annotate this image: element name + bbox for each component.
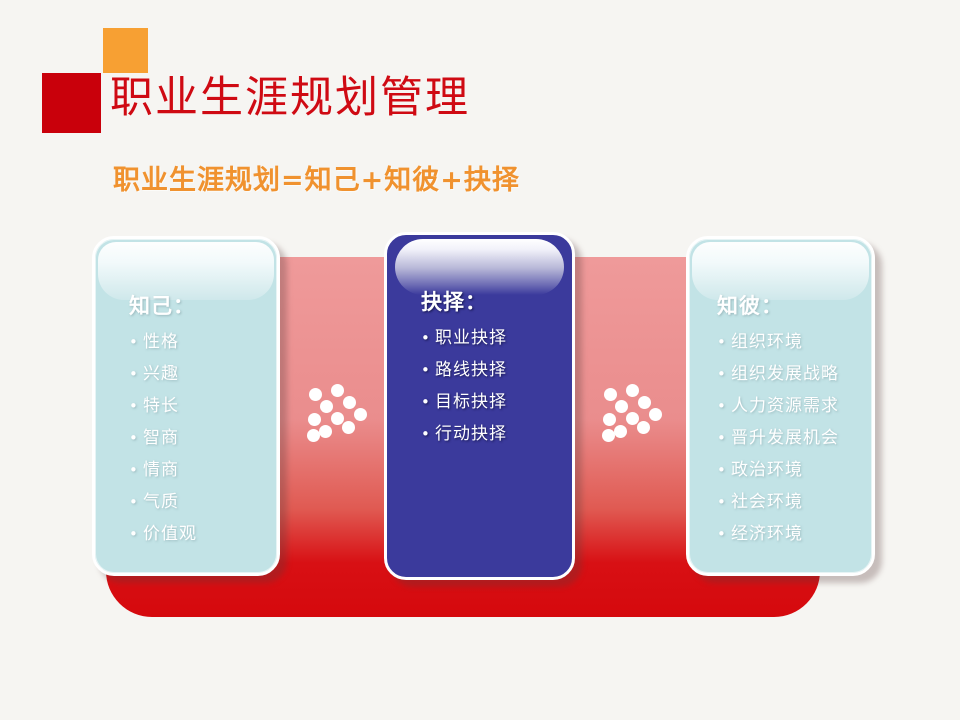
card-juezhe-list: 职业抉择 路线抉择 目标抉择 行动抉择	[421, 322, 572, 450]
card-zhiji-list: 性格 兴趣 特长 智商 情商 气质 价值观	[129, 326, 277, 550]
list-item: 组织发展战略	[717, 358, 872, 390]
page-subtitle: 职业生涯规划=知己+知彼+抉择	[113, 163, 520, 199]
page-title: 职业生涯规划管理	[110, 68, 470, 128]
list-item: 价值观	[129, 518, 277, 550]
list-item: 政治环境	[717, 454, 872, 486]
list-item: 组织环境	[717, 326, 872, 358]
connector-right-dot-arrow-icon	[600, 382, 666, 444]
card-juezhe[interactable]: 抉择： 职业抉择 路线抉择 目标抉择 行动抉择	[384, 232, 575, 580]
card-zhibi[interactable]: 知彼： 组织环境 组织发展战略 人力资源需求 晋升发展机会 政治环境 社会环境 …	[686, 236, 875, 576]
connector-left-dot-arrow-icon	[305, 382, 371, 444]
decor-red-square	[42, 73, 101, 133]
list-item: 特长	[129, 390, 277, 422]
list-item: 晋升发展机会	[717, 422, 872, 454]
list-item: 社会环境	[717, 486, 872, 518]
list-item: 情商	[129, 454, 277, 486]
card-juezhe-heading: 抉择：	[421, 287, 572, 317]
card-zhibi-list: 组织环境 组织发展战略 人力资源需求 晋升发展机会 政治环境 社会环境 经济环境	[717, 326, 872, 550]
card-zhiji[interactable]: 知己： 性格 兴趣 特长 智商 情商 气质 价值观	[92, 236, 280, 576]
card-zhibi-heading: 知彼：	[717, 291, 872, 321]
list-item: 气质	[129, 486, 277, 518]
slide-canvas: 职业生涯规划管理 职业生涯规划=知己+知彼+抉择 知己： 性格 兴趣	[0, 0, 960, 720]
list-item: 目标抉择	[421, 386, 572, 418]
list-item: 人力资源需求	[717, 390, 872, 422]
list-item: 行动抉择	[421, 418, 572, 450]
list-item: 职业抉择	[421, 322, 572, 354]
card-zhiji-heading: 知己：	[129, 291, 277, 321]
list-item: 性格	[129, 326, 277, 358]
list-item: 智商	[129, 422, 277, 454]
list-item: 路线抉择	[421, 354, 572, 386]
list-item: 兴趣	[129, 358, 277, 390]
list-item: 经济环境	[717, 518, 872, 550]
decor-orange-square	[103, 28, 148, 73]
